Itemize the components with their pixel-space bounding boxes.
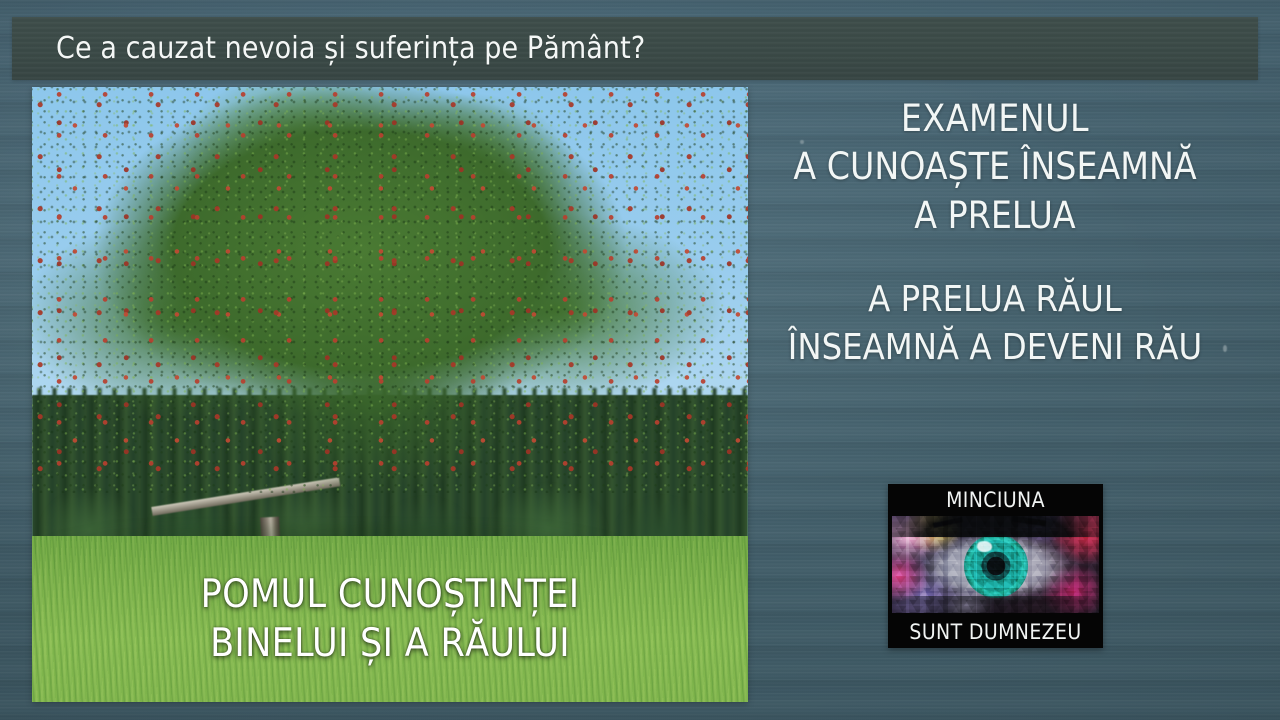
apples-cluster (32, 87, 748, 493)
text-line: EXAMENUL (752, 95, 1238, 143)
eye-label-bottom: SUNT DUMNEZEU (888, 620, 1103, 644)
page-title: Ce a cauzat nevoia și suferința pe Pămân… (56, 30, 645, 65)
photo-caption-line: BINELUI ȘI A RĂULUI (32, 619, 748, 668)
eye-label-top: MINCIUNA (888, 488, 1103, 512)
photo-caption-line: POMUL CUNOȘTINȚEI (32, 570, 748, 619)
mosaic-facet-overlay (892, 516, 1099, 613)
text-block-evil: A PRELUA RĂUL ÎNSEAMNĂ A DEVENI RĂU (752, 276, 1238, 371)
text-line: A PRELUA RĂUL (752, 276, 1238, 324)
mosaic-eye-icon (892, 516, 1099, 613)
slide-canvas: Ce a cauzat nevoia și suferința pe Pămân… (0, 0, 1280, 720)
text-block-exam: EXAMENUL A CUNOAȘTE ÎNSEAMNĂ A PRELUA (752, 95, 1238, 240)
text-line: A CUNOAȘTE ÎNSEAMNĂ (752, 143, 1238, 191)
right-text-column: EXAMENUL A CUNOAȘTE ÎNSEAMNĂ A PRELUA A … (752, 95, 1238, 371)
eye-figure: MINCIUNA SUNT DUMNEZEU (888, 484, 1103, 648)
apple-tree-photo: POMUL CUNOȘTINȚEI BINELUI ȘI A RĂULUI (32, 87, 748, 702)
text-line: ÎNSEAMNĂ A DEVENI RĂU (752, 324, 1238, 372)
title-band: Ce a cauzat nevoia și suferința pe Pămân… (12, 17, 1258, 80)
photo-caption: POMUL CUNOȘTINȚEI BINELUI ȘI A RĂULUI (32, 570, 748, 668)
text-line: A PRELUA (752, 192, 1238, 240)
